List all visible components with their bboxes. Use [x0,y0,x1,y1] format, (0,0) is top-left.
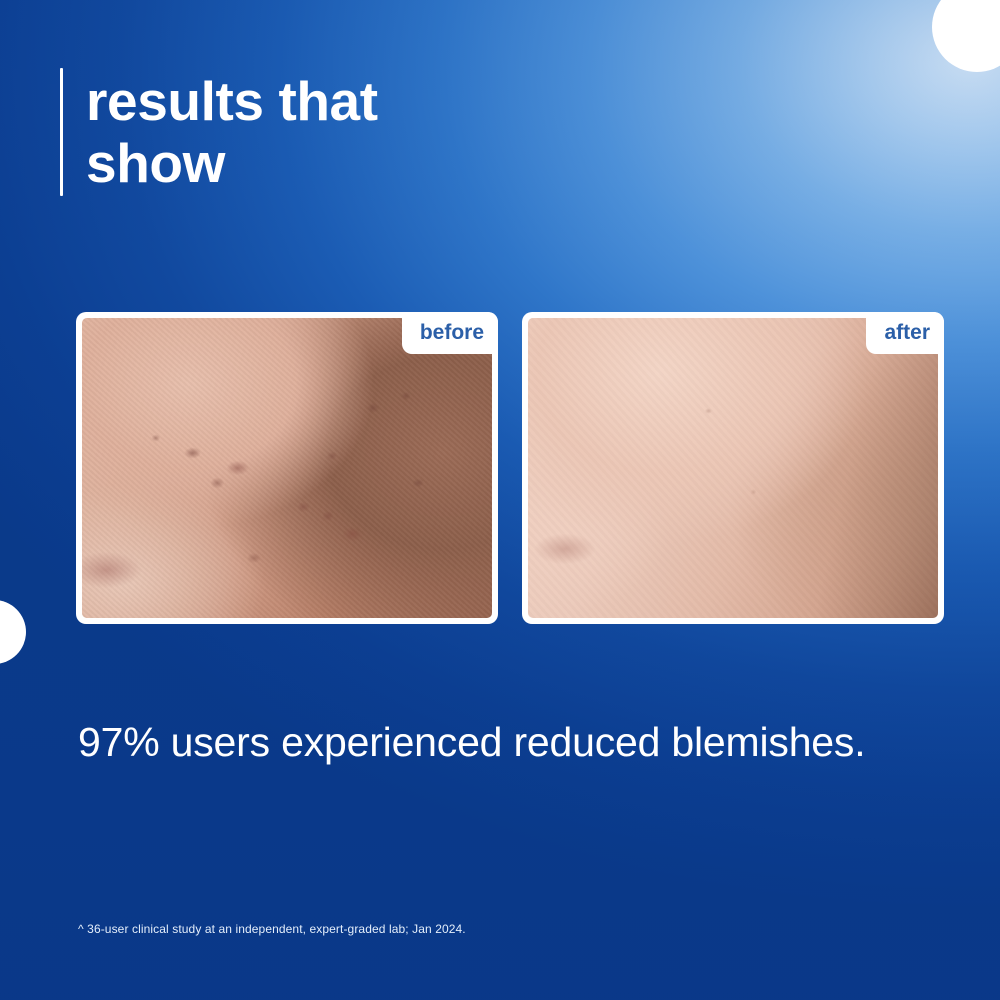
heading-accent-rule [60,68,63,196]
before-skin-photo [82,318,492,618]
heading-title: results that show [86,68,378,196]
after-skin-photo [528,318,938,618]
after-label-tab: after [866,312,944,354]
after-photo-frame [528,318,938,618]
before-photo-card[interactable]: before [76,312,498,624]
before-after-comparison: before after [76,312,944,624]
heading: results that show [60,68,378,196]
before-photo-frame [82,318,492,618]
study-footnote: ^ 36-user clinical study at an independe… [78,922,466,936]
after-photo-card[interactable]: after [522,312,944,624]
before-label-tab: before [402,312,498,354]
claim-statement: 97% users experienced reduced blemishes. [78,718,938,767]
promo-slide: results that show before after 97% users… [0,0,1000,1000]
